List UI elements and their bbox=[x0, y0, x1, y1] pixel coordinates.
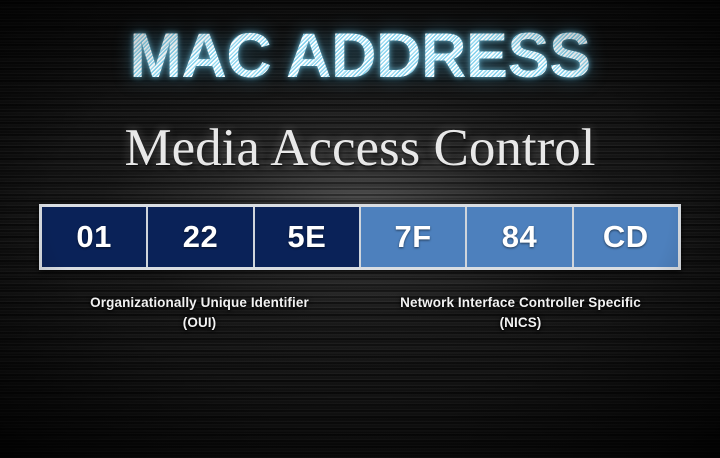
octet-cell-2[interactable]: 22 bbox=[148, 207, 254, 267]
octet-cell-6[interactable]: CD bbox=[574, 207, 678, 267]
caption-oui-abbreviation: (OUI) bbox=[39, 313, 360, 333]
title-container: MAC ADDRESS bbox=[0, 14, 720, 98]
page-subtitle: Media Access Control bbox=[124, 112, 595, 184]
octet-cell-5[interactable]: 84 bbox=[467, 207, 573, 267]
caption-oui-label: Organizationally Unique Identifier bbox=[90, 295, 309, 310]
caption-oui: Organizationally Unique Identifier (OUI) bbox=[39, 293, 360, 333]
octet-cell-3[interactable]: 5E bbox=[255, 207, 361, 267]
octet-cell-4[interactable]: 7F bbox=[361, 207, 467, 267]
caption-row: Organizationally Unique Identifier (OUI)… bbox=[39, 293, 681, 333]
octet-cell-1[interactable]: 01 bbox=[42, 207, 148, 267]
caption-nics-label: Network Interface Controller Specific bbox=[400, 295, 641, 310]
caption-nics-abbreviation: (NICS) bbox=[360, 313, 681, 333]
subtitle-container: Media Access Control bbox=[0, 112, 720, 184]
slide-canvas: MAC ADDRESS Media Access Control 01 22 5… bbox=[0, 0, 720, 458]
mac-address-octet-row: 01 22 5E 7F 84 CD bbox=[39, 204, 681, 270]
page-title: MAC ADDRESS bbox=[129, 14, 590, 98]
caption-nics: Network Interface Controller Specific (N… bbox=[360, 293, 681, 333]
